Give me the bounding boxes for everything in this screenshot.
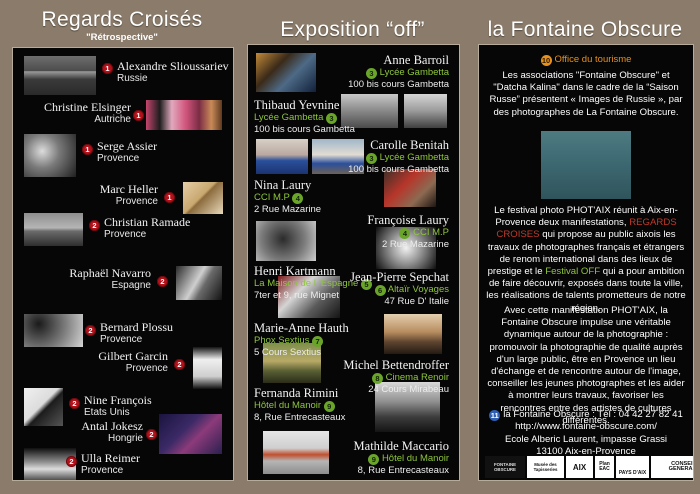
- entry-name: Anne Barroil: [293, 53, 449, 67]
- entry-venue: 6 Altaïr Voyages: [316, 284, 449, 296]
- entry-place: Hongrie: [48, 433, 143, 445]
- badge-1b: 1: [133, 110, 144, 121]
- entry-name: Bernard Plossu: [100, 321, 173, 334]
- entry-serge-assier: Serge Assier Provence: [97, 140, 157, 165]
- entry-place: Espagne: [43, 280, 151, 292]
- badge-1d: 1: [164, 192, 175, 203]
- badge-2f: 2: [146, 429, 157, 440]
- entry-name: Ulla Reimer: [81, 452, 140, 465]
- entry-venue: Phox Sextius 7: [254, 335, 394, 347]
- entry-ulla-reimer: Ulla Reimer Provence: [81, 452, 140, 477]
- photo-marc-heller: [183, 182, 223, 214]
- entry-name: Mathilde Maccario: [303, 439, 449, 453]
- entry-name: Marie-Anne Hauth: [254, 321, 394, 335]
- entry-name: Serge Assier: [97, 140, 157, 153]
- entry-name: Fernanda Rimini: [254, 386, 394, 400]
- entry-name: Nina Laury: [254, 178, 374, 192]
- badge-4b: 4: [399, 228, 410, 239]
- entry-place: Provence: [81, 465, 140, 477]
- photo-antal-jokesz: [159, 414, 222, 454]
- office-tourisme-label: Office du tourisme: [555, 54, 632, 65]
- badge-2c: 2: [85, 325, 96, 336]
- right-column-title: la Fontaine Obscure: [478, 18, 692, 42]
- entry-venue: CCI M.P 4: [254, 192, 374, 204]
- entry-christine-elsinger: Christine Elsinger Autriche: [21, 101, 131, 126]
- entry-place: Provence: [104, 229, 190, 241]
- photo-russian-windows: [541, 131, 631, 199]
- badge-9a: 9: [324, 401, 335, 412]
- photo-henri-kartmann: [256, 221, 316, 261]
- entry-nine-francois: Nine François Etats Unis: [84, 394, 152, 419]
- festival-off-highlight: Festival OFF: [545, 266, 600, 277]
- badge-2d: 2: [174, 359, 185, 370]
- entry-bernard-plossu: Bernard Plossu Provence: [100, 321, 173, 346]
- entry-name: Raphaël Navarro: [43, 267, 151, 280]
- entry-address: 47 Rue D' Italie: [316, 296, 449, 308]
- badge-7: 7: [312, 336, 323, 347]
- left-column-subtitle: "Rétrospective": [12, 32, 232, 44]
- entry-raphael-navarro: Raphaël Navarro Espagne: [43, 267, 151, 292]
- badge-8: 8: [372, 373, 383, 384]
- entry-address: 2 Rue Mazarine: [323, 239, 449, 251]
- entry-name: Françoise Laury: [323, 213, 449, 227]
- badge-9b: 9: [368, 454, 379, 465]
- poster-root: Regards Croisés "Rétrospective" Expositi…: [0, 0, 700, 494]
- musee-tapisseries-logo: Musée desTapisseries: [527, 456, 564, 478]
- badge-6: 6: [375, 285, 386, 296]
- photo-christian-ramade: [24, 213, 83, 246]
- entry-mathilde-maccario: Mathilde Maccario 9 Hôtel du Manoir 8, R…: [303, 439, 449, 477]
- entry-alexandre-slioussariev: Alexandre Slioussariev Russie: [117, 60, 229, 85]
- badge-1a: 1: [102, 63, 113, 74]
- logo-line-2: GENERAL: [669, 467, 694, 472]
- entry-name: Alexandre Slioussariev: [117, 60, 229, 73]
- conseil-general-logo: CONSEILGENERAL: [651, 456, 694, 478]
- entry-venue: 3 Lycée Gambetta: [293, 152, 449, 164]
- badge-11: 11: [489, 410, 500, 421]
- plan-eac-logo: PlanEAC: [595, 456, 614, 478]
- office-tourisme-row: 10Office du tourisme: [479, 54, 693, 66]
- entry-name: Christian Ramade: [104, 216, 190, 229]
- sponsor-logos: FONTAINE OBSCURE Musée desTapisseries AI…: [485, 456, 694, 478]
- entry-name: Marc Heller: [53, 183, 158, 196]
- contact-address: Ecole Alberic Laurent, impasse Grassi: [483, 434, 689, 446]
- entry-name: Michel Bettendroffer: [303, 358, 449, 372]
- entry-nina-laury: Nina Laury CCI M.P 4 2 Rue Mazarine: [254, 178, 374, 216]
- entry-jean-pierre-sepchat: Jean-Pierre Sepchat 6 Altaïr Voyages 47 …: [316, 270, 449, 308]
- entry-address: 100 bis cours Gambetta: [293, 164, 449, 176]
- left-column-title: Regards Croisés: [12, 8, 232, 32]
- entry-carolle-benitah: Carolle Benitah 3 Lycée Gambetta 100 bis…: [293, 138, 449, 176]
- badge-3c: 3: [366, 153, 377, 164]
- entry-place: Provence: [53, 196, 158, 208]
- entry-venue: 3 Lycée Gambetta: [293, 67, 449, 79]
- entry-name: Antal Jokesz: [48, 420, 143, 433]
- photo-bernard-plossu: [24, 314, 83, 347]
- pays-daix-logo: PAYS D'AIX: [616, 456, 649, 478]
- badge-2g: 2: [66, 456, 77, 467]
- badge-4a: 4: [292, 193, 303, 204]
- entry-francoise-laury: Françoise Laury 4 CCI M.P 2 Rue Mazarine: [323, 213, 449, 251]
- right-column-heading: la Fontaine Obscure: [478, 18, 692, 42]
- logo-line-2: Tapisseries: [534, 467, 558, 472]
- right-panel: 10Office du tourisme Les associations "F…: [478, 44, 694, 481]
- entry-place: Autriche: [21, 114, 131, 126]
- badge-3b: 3: [326, 113, 337, 124]
- photo-efrain-vivas: [153, 480, 222, 481]
- entry-antal-jokesz: Antal Jokesz Hongrie: [48, 420, 143, 445]
- entry-venue: Lycée Gambetta 3: [254, 112, 414, 124]
- entry-venue: 8 Cinema Renoir: [303, 372, 449, 384]
- contact-block: 11la Fontaine Obscure : Tél : 04 42 27 8…: [483, 409, 689, 459]
- badge-10: 10: [541, 55, 552, 66]
- ville-aix-logo: AIX: [566, 456, 593, 478]
- fontaine-obscure-logo: FONTAINE OBSCURE: [485, 456, 525, 478]
- entry-address: 8, Rue Entrecasteaux: [303, 465, 449, 477]
- entry-marie-anne-hauth: Marie-Anne Hauth Phox Sextius 7 5 Cours …: [254, 321, 394, 359]
- entry-name: Gilbert Garcin: [63, 350, 168, 363]
- left-panel: Alexandre Slioussariev Russie 1 Christin…: [12, 47, 234, 481]
- entry-place: Russie: [117, 73, 229, 85]
- entry-venue: 4 CCI M.P: [323, 227, 449, 239]
- middle-column-heading: Exposition “off”: [247, 18, 458, 42]
- contact-website[interactable]: http://www.fontaine-obscure.com/: [483, 421, 689, 433]
- middle-column-title: Exposition “off”: [247, 18, 458, 42]
- entry-anne-barroil: Anne Barroil 3 Lycée Gambetta 100 bis co…: [293, 53, 449, 91]
- photo-raphael-navarro: [176, 266, 222, 300]
- entry-address: 100 bis cours Gambetta: [254, 124, 414, 136]
- entry-fernanda-rimini: Fernanda Rimini Hôtel du Manoir 9 8, Rue…: [254, 386, 394, 424]
- intro-paragraph: Les associations "Fontaine Obscure" et "…: [485, 70, 687, 119]
- badge-1c: 1: [82, 144, 93, 155]
- entry-place: Provence: [100, 334, 173, 346]
- entry-address: 8, Rue Entrecasteaux: [254, 412, 394, 424]
- photo-alexandre-slioussariev: [24, 56, 96, 95]
- logo-line-1: AIX: [573, 465, 586, 470]
- entry-gilbert-garcin: Gilbert Garcin Provence: [63, 350, 168, 375]
- logo-line-1: PAYS D'AIX: [619, 471, 646, 476]
- photo-gilbert-garcin: [193, 347, 222, 389]
- entry-thibaud-yevnine: Thibaud Yevnine Lycée Gambetta 3 100 bis…: [254, 98, 414, 136]
- entry-christian-ramade: Christian Ramade Provence: [104, 216, 190, 241]
- contact-line-1: 11la Fontaine Obscure : Tél : 04 42 27 8…: [483, 409, 689, 421]
- badge-2b: 2: [157, 276, 168, 287]
- entry-name: Thibaud Yevnine: [254, 98, 414, 112]
- entry-address: 5 Cours Sextius: [254, 347, 394, 359]
- entry-venue: 9 Hôtel du Manoir: [303, 453, 449, 465]
- entry-place: Etats Unis: [84, 407, 152, 419]
- logo-line-2: OBSCURE: [494, 467, 516, 472]
- entry-address: 100 bis cours Gambetta: [293, 79, 449, 91]
- left-column-heading: Regards Croisés "Rétrospective": [12, 8, 232, 44]
- entry-place: Provence: [63, 363, 168, 375]
- entry-name: Carolle Benitah: [293, 138, 449, 152]
- entry-name: Christine Elsinger: [21, 101, 131, 114]
- photo-christine-elsinger: [146, 100, 222, 130]
- entry-name: Jean-Pierre Sepchat: [316, 270, 449, 284]
- badge-2a: 2: [89, 220, 100, 231]
- middle-panel: Anne Barroil 3 Lycée Gambetta 100 bis co…: [247, 44, 460, 481]
- badge-3a: 3: [366, 68, 377, 79]
- logo-line-2: EAC: [599, 467, 610, 472]
- badge-2e: 2: [69, 398, 80, 409]
- entry-place: Provence: [97, 153, 157, 165]
- entry-venue: Hôtel du Manoir 9: [254, 400, 394, 412]
- entry-name: Nine François: [84, 394, 152, 407]
- photo-serge-assier: [24, 134, 76, 177]
- festival-paragraph: Le festival photo PHOT'AIX réunit à Aix-…: [485, 205, 687, 315]
- entry-marc-heller: Marc Heller Provence: [53, 183, 158, 208]
